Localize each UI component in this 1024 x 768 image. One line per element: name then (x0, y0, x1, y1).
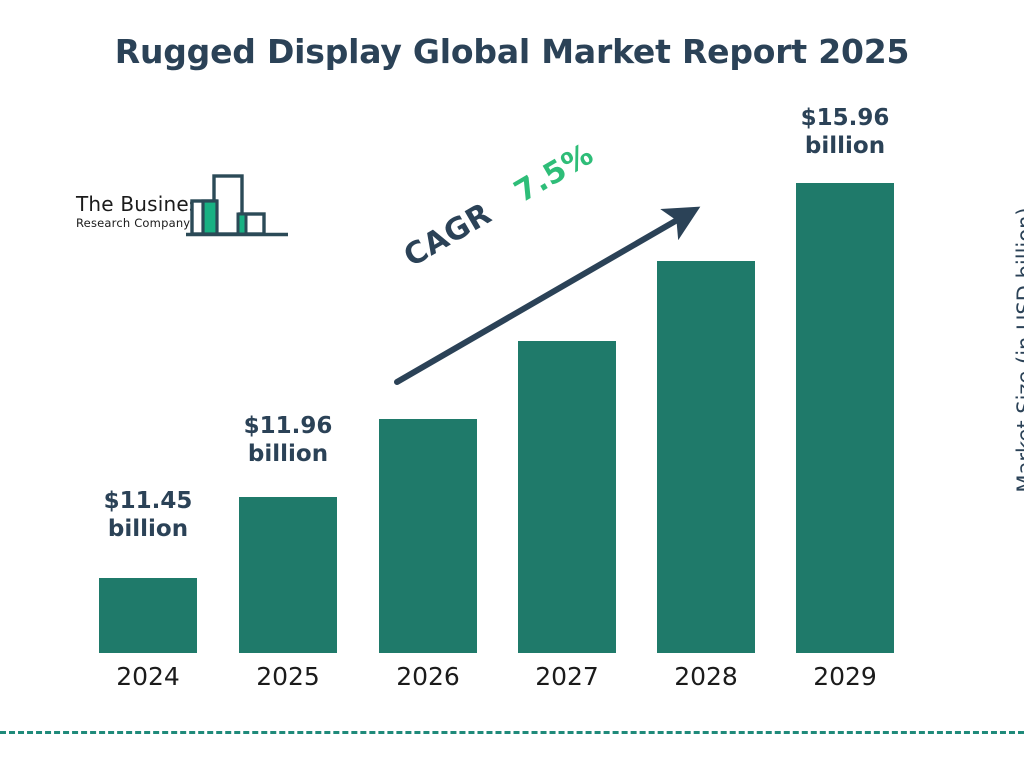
x-tick-2024: 2024 (99, 662, 197, 691)
y-axis-title: Market Size (in USD billion) (1005, 185, 1024, 515)
bar-2026 (379, 419, 477, 653)
footer-divider (0, 731, 1024, 734)
bar-label-2025: $11.96 billion (200, 412, 376, 468)
bar-label-2024: $11.45 billion (60, 487, 236, 543)
x-tick-2029: 2029 (796, 662, 894, 691)
x-tick-2028: 2028 (657, 662, 755, 691)
chart-plot-area: $11.45 billion $11.96 billion $15.96 bil… (0, 0, 1024, 768)
bar-label-2024-amount: $11.45 (60, 487, 236, 515)
bar-label-2029-amount: $15.96 (757, 104, 933, 132)
bar-2024 (99, 578, 197, 653)
bar-label-2029: $15.96 billion (757, 104, 933, 160)
x-tick-2025: 2025 (239, 662, 337, 691)
x-tick-2026: 2026 (379, 662, 477, 691)
x-tick-2027: 2027 (518, 662, 616, 691)
bar-2025 (239, 497, 337, 653)
bar-label-2029-unit: billion (757, 132, 933, 160)
bar-label-2025-unit: billion (200, 440, 376, 468)
bar-2029 (796, 183, 894, 653)
bar-label-2024-unit: billion (60, 515, 236, 543)
cagr-growth-arrow-icon (380, 190, 720, 400)
bar-label-2025-amount: $11.96 (200, 412, 376, 440)
